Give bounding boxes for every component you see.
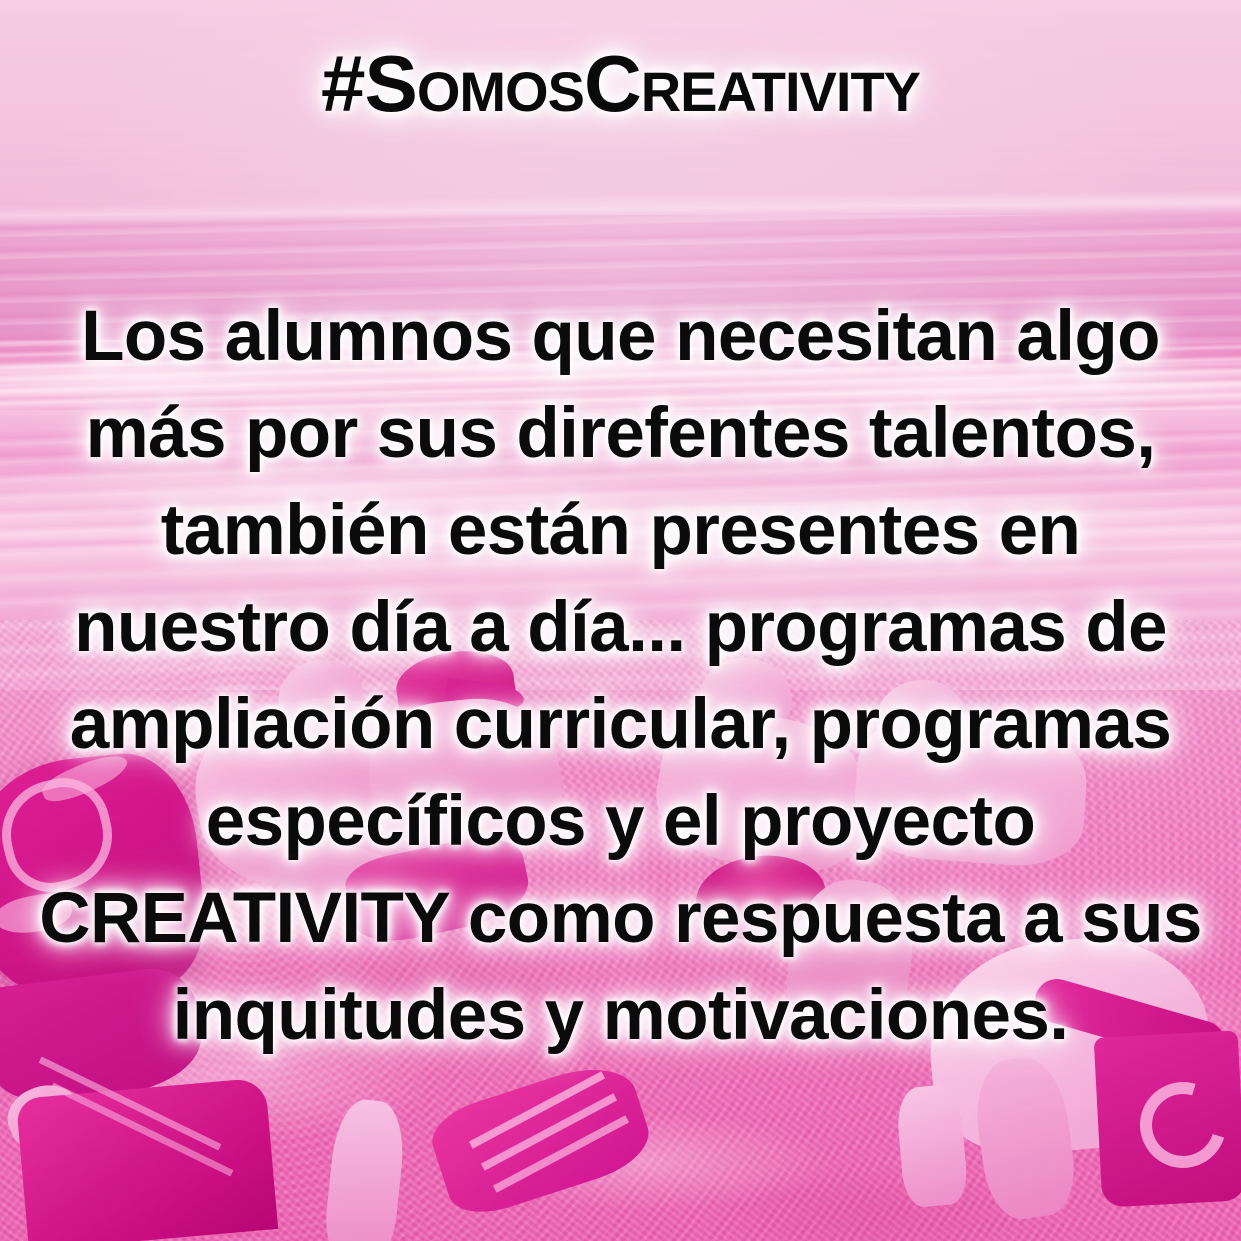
quote-line: ampliación curricular, programas: [20, 676, 1221, 773]
text-overlay: #SomosCreativity Los alumnos que necesit…: [0, 0, 1241, 1241]
quote-line: inquitudes y motivaciones.: [20, 967, 1221, 1064]
quote-body: Los alumnos que necesitan algo más por s…: [20, 288, 1221, 1064]
quote-line: también están presentes en: [20, 482, 1221, 579]
quote-line: más por sus direfentes talentos,: [20, 385, 1221, 482]
quote-card: #SomosCreativity Los alumnos que necesit…: [0, 0, 1241, 1241]
quote-line: CREATIVITY como respuesta a sus: [20, 870, 1221, 967]
hashtag-headline: #SomosCreativity: [0, 38, 1241, 130]
quote-line: específicos y el proyecto: [20, 773, 1221, 870]
quote-line: nuestro día a día... programas de: [20, 579, 1221, 676]
quote-line: Los alumnos que necesitan algo: [20, 288, 1221, 385]
